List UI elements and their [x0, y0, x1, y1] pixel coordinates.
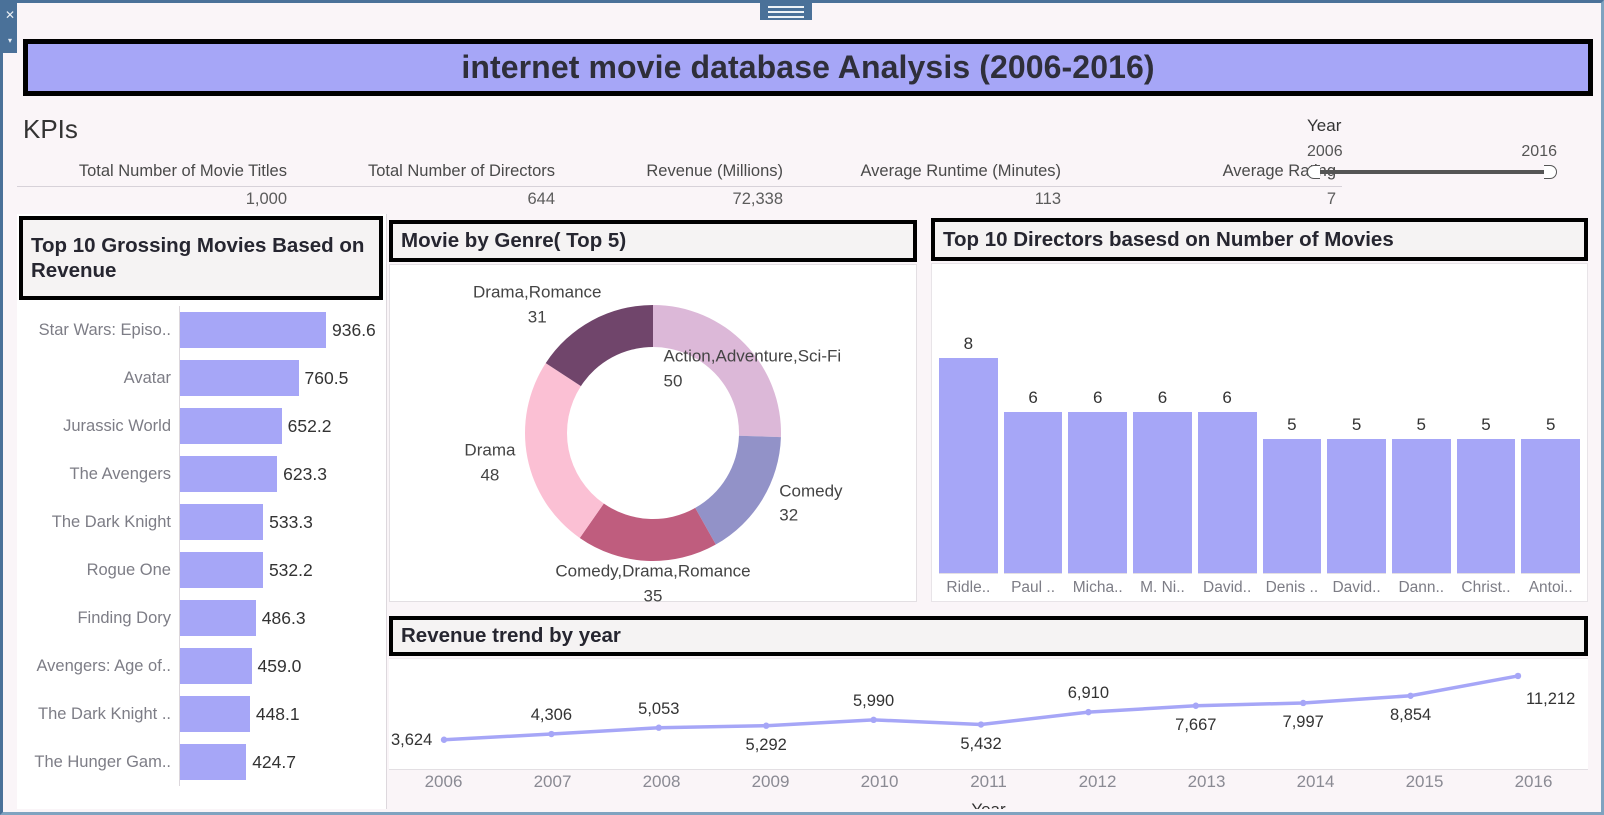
year-slider-track[interactable]	[1315, 170, 1549, 174]
revenue-bar[interactable]	[180, 600, 256, 636]
revenue-value: 652.2	[282, 416, 332, 437]
revenue-bar[interactable]	[180, 744, 246, 780]
year-filter-max: 2016	[1521, 143, 1557, 161]
trend-point-label: 6,910	[1068, 684, 1109, 703]
genre-slice-label: Drama48	[464, 439, 515, 488]
year-tick-label: 2010	[825, 772, 934, 792]
trend-point[interactable]	[656, 725, 662, 731]
table-row[interactable]: Avengers: Age of..459.0	[17, 642, 386, 690]
top-directors-columns: 8Ridle..6Paul ..6Micha..6M. Ni..6David..…	[936, 270, 1583, 601]
top-directors-chart: 8Ridle..6Paul ..6Micha..6M. Ni..6David..…	[931, 263, 1588, 602]
trend-point-label: 4,306	[531, 706, 572, 725]
movie-title-label: Jurassic World	[17, 417, 179, 436]
drag-line-icon	[768, 16, 804, 18]
bar-container: 760.5	[179, 354, 386, 402]
year-tick-label: 2011	[934, 772, 1043, 792]
bar-container: 424.7	[179, 738, 386, 786]
table-row[interactable]: The Dark Knight533.3	[17, 498, 386, 546]
trend-point-label: 5,053	[638, 700, 679, 719]
trend-point-label: 7,667	[1175, 716, 1216, 735]
kpi-header-avg-rating: Average Rating	[1067, 160, 1342, 186]
revenue-bar[interactable]	[180, 504, 263, 540]
top-directors-panel: Top 10 Directors basesd on Number of Mov…	[929, 218, 1598, 602]
revenue-value: 486.3	[256, 608, 306, 629]
kpi-header-avg-runtime: Average Runtime (Minutes)	[789, 160, 1067, 186]
revenue-trend-x-ticks: 2006200720082009201020112012201320142015…	[389, 772, 1588, 792]
revenue-value: 448.1	[250, 704, 300, 725]
page-title: internet movie database Analysis (2006-2…	[461, 49, 1154, 86]
director-name-label: Dann..	[1392, 573, 1451, 601]
kpi-header-revenue: Revenue (Millions)	[561, 160, 789, 186]
director-movie-count: 5	[1327, 415, 1386, 435]
revenue-trend-x-axis-label: Year	[389, 800, 1588, 809]
table-row[interactable]: Rogue One532.2	[17, 546, 386, 594]
kpi-section: KPIs Total Number of Movie Titles Total …	[17, 106, 1593, 211]
year-tick-label: 2013	[1152, 772, 1261, 792]
trend-point[interactable]	[548, 731, 554, 737]
director-movie-count: 6	[1068, 388, 1127, 408]
revenue-value: 936.6	[326, 320, 376, 341]
table-row[interactable]: The Hunger Gam..424.7	[17, 738, 386, 786]
kpi-header-total-directors: Total Number of Directors	[293, 160, 561, 186]
trend-point-label: 5,292	[746, 736, 787, 755]
kpi-section-label: KPIs	[23, 114, 78, 145]
year-tick-label: 2015	[1370, 772, 1479, 792]
director-movie-count: 6	[1004, 388, 1063, 408]
director-name-label: M. Ni..	[1133, 573, 1192, 601]
revenue-trend-chart: 3,6244,3065,0535,2925,9905,4326,9107,667…	[389, 658, 1588, 770]
bar-container: 486.3	[179, 594, 386, 642]
revenue-value: 623.3	[277, 464, 327, 485]
director-bar[interactable]	[939, 358, 998, 573]
year-tick-label: 2016	[1479, 772, 1588, 792]
top-grossing-movies-title: Top 10 Grossing Movies Based on Revenue	[19, 216, 383, 300]
director-name-label: Paul ..	[1004, 573, 1063, 601]
bar-container: 623.3	[179, 450, 386, 498]
table-row[interactable]: Star Wars: Episo..936.6	[17, 306, 386, 354]
movie-title-label: The Avengers	[17, 465, 179, 484]
bar-container: 652.2	[179, 402, 386, 450]
movie-by-genre-title: Movie by Genre( Top 5)	[389, 220, 917, 262]
top-directors-title: Top 10 Directors basesd on Number of Mov…	[931, 218, 1588, 261]
genre-slice-label: Drama,Romance31	[473, 281, 602, 330]
director-bar[interactable]	[1004, 412, 1063, 573]
revenue-bar[interactable]	[180, 696, 250, 732]
director-name-label: David..	[1198, 573, 1257, 601]
movie-title-label: Star Wars: Episo..	[17, 321, 179, 340]
trend-point[interactable]	[1407, 693, 1413, 699]
bar-container: 936.6	[179, 306, 386, 354]
table-row[interactable]: The Dark Knight ..448.1	[17, 690, 386, 738]
year-filter-min: 2006	[1307, 143, 1343, 161]
trend-point-label: 11,212	[1526, 690, 1575, 709]
director-column[interactable]: 6M. Ni..	[1130, 270, 1195, 601]
year-tick-label: 2009	[716, 772, 825, 792]
top-grossing-movies-panel: Top 10 Grossing Movies Based on Revenue …	[17, 214, 387, 809]
revenue-value: 424.7	[246, 752, 296, 773]
top-grossing-movies-chart: Star Wars: Episo..936.6Avatar760.5Jurass…	[17, 306, 386, 801]
year-slider-handle-max[interactable]	[1544, 165, 1557, 179]
director-column[interactable]: 6Paul ..	[1001, 270, 1066, 601]
table-row[interactable]: The Avengers623.3	[17, 450, 386, 498]
trend-point[interactable]	[978, 721, 984, 727]
director-bar[interactable]	[1392, 439, 1451, 573]
trend-point-label: 7,997	[1283, 713, 1324, 732]
year-tick-label: 2014	[1261, 772, 1370, 792]
close-icon[interactable]: ✕	[3, 3, 17, 28]
year-slider-handle-min[interactable]	[1307, 165, 1320, 179]
revenue-trend-title: Revenue trend by year	[389, 616, 1588, 656]
kpi-value-avg-runtime: 113	[789, 187, 1067, 213]
director-movie-count: 5	[1457, 415, 1516, 435]
director-column[interactable]: 5Denis ..	[1260, 270, 1325, 601]
kpi-value-total-titles: 1,000	[17, 187, 293, 213]
trend-point[interactable]	[1193, 703, 1199, 709]
drag-line-icon	[768, 11, 804, 13]
bar-container: 459.0	[179, 642, 386, 690]
director-bar[interactable]	[1521, 439, 1580, 573]
year-filter-label: Year	[1307, 116, 1557, 136]
revenue-bar[interactable]	[180, 408, 282, 444]
director-column[interactable]: 5Antoi..	[1518, 270, 1583, 601]
director-column[interactable]: 6Micha..	[1065, 270, 1130, 601]
year-tick-label: 2012	[1043, 772, 1152, 792]
director-bar[interactable]	[1327, 439, 1386, 573]
movie-title-label: The Dark Knight ..	[17, 705, 179, 724]
genre-slice[interactable]	[525, 363, 604, 538]
director-movie-count: 6	[1133, 388, 1192, 408]
revenue-value: 760.5	[299, 368, 349, 389]
trend-point[interactable]	[870, 717, 876, 723]
kpi-header-total-titles: Total Number of Movie Titles	[17, 160, 293, 186]
director-name-label: Ridle..	[939, 573, 998, 601]
year-slider[interactable]	[1307, 164, 1557, 180]
table-row[interactable]: Jurassic World652.2	[17, 402, 386, 450]
director-column[interactable]: 5Christ..	[1454, 270, 1519, 601]
revenue-bar[interactable]	[180, 456, 277, 492]
revenue-trend-panel: Revenue trend by year 3,6244,3065,0535,2…	[389, 614, 1598, 809]
left-rail: ✕ ▾	[3, 3, 17, 53]
revenue-bar[interactable]	[180, 312, 326, 348]
kpi-value-row: 1,000 644 72,338 113 7	[17, 187, 1342, 213]
bar-container: 448.1	[179, 690, 386, 738]
director-movie-count: 5	[1392, 415, 1451, 435]
bar-container: 533.3	[179, 498, 386, 546]
director-bar[interactable]	[1198, 412, 1257, 573]
table-row[interactable]: Avatar760.5	[17, 354, 386, 402]
trend-point[interactable]	[1085, 709, 1091, 715]
kpi-value-avg-rating: 7	[1067, 187, 1342, 213]
kpi-value-total-directors: 644	[293, 187, 561, 213]
director-name-label: Antoi..	[1521, 573, 1580, 601]
kpi-value-revenue: 72,338	[561, 187, 789, 213]
dashboard-canvas: internet movie database Analysis (2006-2…	[17, 6, 1598, 809]
revenue-value: 533.3	[263, 512, 313, 533]
genre-slice-label: Comedy,Drama,Romance35	[555, 560, 750, 609]
genre-slice[interactable]	[580, 504, 716, 561]
trend-point[interactable]	[763, 723, 769, 729]
movie-by-genre-chart: Action,Adventure,Sci-Fi50Comedy32Comedy,…	[389, 264, 917, 602]
revenue-bar[interactable]	[180, 552, 263, 588]
window-drag-handle[interactable]	[760, 3, 812, 20]
genre-slice-label: Action,Adventure,Sci-Fi50	[664, 345, 842, 394]
trend-line	[444, 676, 1518, 740]
director-name-label: David..	[1327, 573, 1386, 601]
director-bar[interactable]	[1068, 412, 1127, 573]
revenue-trend-axis: 2006200720082009201020112012201320142015…	[389, 772, 1588, 809]
dashboard-window: ✕ ▾ internet movie database Analysis (20…	[0, 0, 1604, 815]
director-name-label: Micha..	[1068, 573, 1127, 601]
movie-title-label: Avatar	[17, 369, 179, 388]
movie-title-label: The Hunger Gam..	[17, 753, 179, 772]
director-movie-count: 5	[1521, 415, 1580, 435]
director-bar[interactable]	[1263, 439, 1322, 573]
kpi-table: Total Number of Movie Titles Total Numbe…	[17, 160, 1342, 213]
director-column[interactable]: 5Dann..	[1389, 270, 1454, 601]
movie-title-label: The Dark Knight	[17, 513, 179, 532]
revenue-value: 532.2	[263, 560, 313, 581]
director-name-label: Denis ..	[1263, 573, 1322, 601]
director-column[interactable]: 5David..	[1324, 270, 1389, 601]
movie-title-label: Finding Dory	[17, 609, 179, 628]
revenue-bar[interactable]	[180, 648, 252, 684]
trend-point[interactable]	[441, 737, 447, 743]
director-bar[interactable]	[1133, 412, 1192, 573]
director-bar[interactable]	[1457, 439, 1516, 573]
director-column[interactable]: 8Ridle..	[936, 270, 1001, 601]
year-tick-label: 2008	[607, 772, 716, 792]
dashboard-title-bar: internet movie database Analysis (2006-2…	[23, 39, 1593, 96]
movie-by-genre-panel: Movie by Genre( Top 5) Action,Adventure,…	[389, 220, 917, 602]
revenue-value: 459.0	[252, 656, 302, 677]
director-movie-count: 8	[939, 334, 998, 354]
genre-slice-label: Comedy32	[779, 479, 842, 528]
kpi-header-row: Total Number of Movie Titles Total Numbe…	[17, 160, 1342, 187]
director-movie-count: 6	[1198, 388, 1257, 408]
movie-title-label: Rogue One	[17, 561, 179, 580]
movie-title-label: Avengers: Age of..	[17, 657, 179, 676]
trend-point[interactable]	[1515, 673, 1521, 679]
trend-point-label: 3,624	[391, 731, 432, 750]
chevron-down-icon[interactable]: ▾	[3, 28, 17, 53]
trend-point-label: 5,990	[853, 692, 894, 711]
trend-point[interactable]	[1300, 700, 1306, 706]
revenue-bar[interactable]	[180, 360, 299, 396]
year-tick-label: 2007	[498, 772, 607, 792]
year-filter-bounds: 2006 2016	[1307, 143, 1557, 161]
drag-line-icon	[768, 6, 804, 8]
director-column[interactable]: 6David..	[1195, 270, 1260, 601]
year-tick-label: 2006	[389, 772, 498, 792]
year-filter[interactable]: Year 2006 2016	[1307, 116, 1557, 180]
director-movie-count: 5	[1263, 415, 1322, 435]
genre-slice[interactable]	[695, 436, 781, 545]
bar-container: 532.2	[179, 546, 386, 594]
table-row[interactable]: Finding Dory486.3	[17, 594, 386, 642]
trend-point-label: 8,854	[1390, 706, 1431, 725]
trend-point-label: 5,432	[960, 735, 1001, 754]
director-name-label: Christ..	[1457, 573, 1516, 601]
